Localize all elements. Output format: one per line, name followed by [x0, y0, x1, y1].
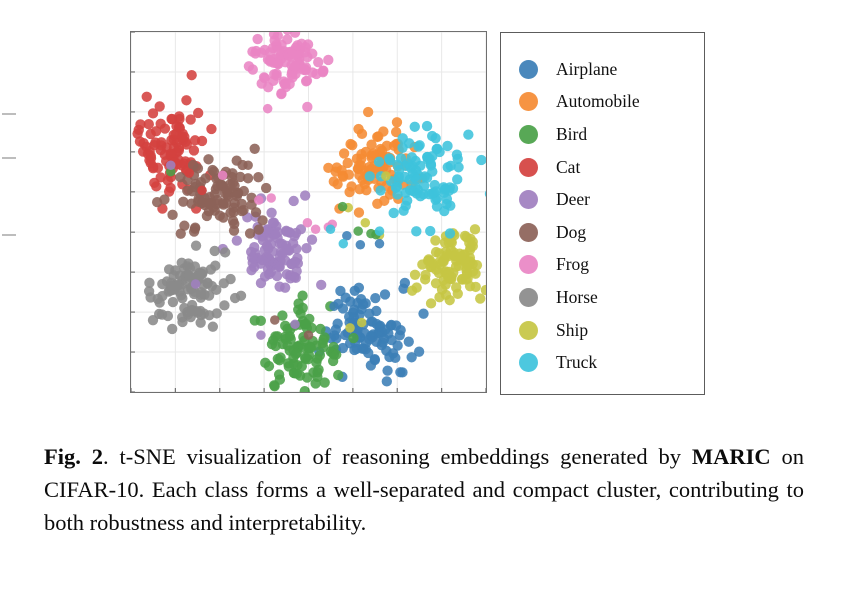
legend-item-ship[interactable]: Ship [519, 314, 704, 347]
legend-label: Airplane [556, 59, 617, 80]
legend-item-horse[interactable]: Horse [519, 281, 704, 314]
legend-label: Horse [556, 287, 598, 308]
legend-label: Truck [556, 352, 597, 373]
legend-item-truck[interactable]: Truck [519, 346, 704, 379]
legend-swatch-automobile-icon [519, 92, 538, 111]
legend-label: Ship [556, 320, 588, 341]
legend-item-cat[interactable]: Cat [519, 151, 704, 184]
caption-text-part-1: t-SNE visualization of reasoning embeddi… [109, 444, 692, 469]
legend-label: Deer [556, 189, 590, 210]
figure-caption: Fig. 2. t-SNE visualization of reasoning… [44, 440, 804, 539]
legend-item-dog[interactable]: Dog [519, 216, 704, 249]
legend-swatch-deer-icon [519, 190, 538, 209]
legend-item-bird[interactable]: Bird [519, 118, 704, 151]
plot-tick-marks [131, 32, 486, 392]
legend-label: Frog [556, 254, 589, 275]
scatter-plot-panel [130, 31, 487, 393]
margin-text-fragment [2, 157, 16, 159]
legend-panel: AirplaneAutomobileBirdCatDeerDogFrogHors… [500, 32, 705, 395]
legend-swatch-horse-icon [519, 288, 538, 307]
legend-label: Dog [556, 222, 586, 243]
legend-item-airplane[interactable]: Airplane [519, 53, 704, 86]
margin-text-fragment [2, 113, 16, 115]
legend-swatch-frog-icon [519, 255, 538, 274]
legend-label: Automobile [556, 91, 640, 112]
legend-swatch-bird-icon [519, 125, 538, 144]
legend-swatch-cat-icon [519, 158, 538, 177]
legend-swatch-ship-icon [519, 321, 538, 340]
figure-tsne-cifar10: AirplaneAutomobileBirdCatDeerDogFrogHors… [0, 0, 845, 420]
legend-swatch-airplane-icon [519, 60, 538, 79]
legend-item-frog[interactable]: Frog [519, 249, 704, 282]
legend-swatch-truck-icon [519, 353, 538, 372]
caption-bold-term: MARIC [692, 444, 771, 469]
legend-label: Bird [556, 124, 587, 145]
legend-swatch-dog-icon [519, 223, 538, 242]
legend-label: Cat [556, 157, 580, 178]
margin-text-fragment [2, 234, 16, 236]
legend-item-deer[interactable]: Deer [519, 183, 704, 216]
legend-item-automobile[interactable]: Automobile [519, 86, 704, 119]
caption-figure-label: Fig. 2 [44, 444, 103, 469]
